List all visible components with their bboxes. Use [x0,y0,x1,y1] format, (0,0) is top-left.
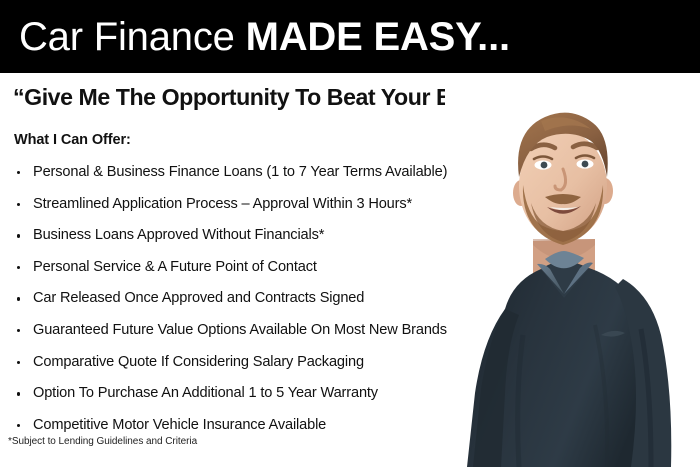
list-item-label: Car Released Once Approved and Contracts… [33,290,364,306]
headline-quote: “Give Me The Opportunity To Beat Your Be… [13,83,677,111]
bullet-icon [17,424,20,427]
list-item-label: Competitive Motor Vehicle Insurance Avai… [33,417,326,433]
list-item: Comparative Quote If Considering Salary … [14,347,514,379]
poster-canvas: Car Finance MADE EASY... “Give Me The Op… [0,0,700,467]
list-item-label: Personal & Business Finance Loans (1 to … [33,164,447,180]
list-item: Streamlined Application Process – Approv… [14,189,514,221]
banner-title: Car Finance MADE EASY... [19,13,510,61]
bullet-icon [17,266,20,269]
offer-heading: What I Can Offer: [14,132,131,148]
list-item: Personal Service & A Future Point of Con… [14,252,514,284]
bullet-icon [17,361,20,364]
list-item-label: Personal Service & A Future Point of Con… [33,259,317,275]
list-item: Business Loans Approved Without Financia… [14,220,514,252]
bullet-icon [17,234,20,237]
bullet-icon [17,297,20,300]
list-item: Car Released Once Approved and Contracts… [14,283,514,315]
list-item: Guaranteed Future Value Options Availabl… [14,315,514,347]
list-item: Personal & Business Finance Loans (1 to … [14,157,514,189]
offer-list: Personal & Business Finance Loans (1 to … [14,157,514,441]
list-item-label: Option To Purchase An Additional 1 to 5 … [33,385,378,401]
list-item-label: Comparative Quote If Considering Salary … [33,354,364,370]
bullet-icon [17,203,20,206]
list-item: Option To Purchase An Additional 1 to 5 … [14,378,514,410]
header-banner: Car Finance MADE EASY... [0,0,700,73]
list-item-label: Streamlined Application Process – Approv… [33,196,412,212]
footnote-text: *Subject to Lending Guidelines and Crite… [8,435,197,448]
banner-title-light: Car Finance [19,15,246,59]
bullet-icon [17,392,20,395]
bullet-icon [17,171,20,174]
list-item-label: Guaranteed Future Value Options Availabl… [33,322,447,338]
list-item-label: Business Loans Approved Without Financia… [33,227,324,243]
bullet-icon [17,329,20,332]
banner-title-bold: MADE EASY... [246,15,510,59]
